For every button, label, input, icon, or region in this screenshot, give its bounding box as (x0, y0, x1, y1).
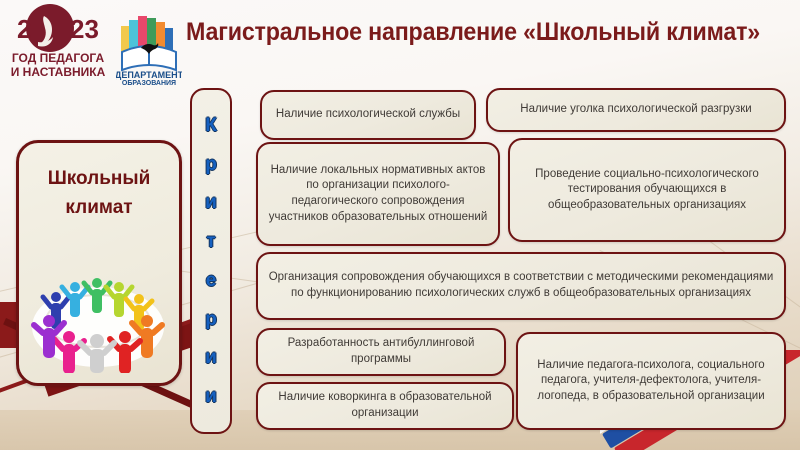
criteria-box: Наличие локальных нормативных актов по о… (256, 142, 500, 246)
criteria-letter: т (206, 232, 215, 251)
school-climate-title-line1: Школьный (48, 168, 151, 189)
criteria-box: Проведение социально-психологического те… (508, 138, 786, 242)
criteria-box: Наличие психологической службы (260, 90, 476, 140)
slide: 2 23 ГОД ПЕДАГОГА И НАСТАВНИКА ДЕПАРТАМЕ… (0, 0, 800, 450)
criteria-letter: р (205, 155, 217, 174)
school-climate-card: Школьный климат (16, 140, 182, 386)
dep-logo-line1: ДЕПАРТАМЕНТ (116, 70, 182, 80)
criteria-letter: и (205, 387, 217, 406)
criteria-box: Разработанность антибуллинговой программ… (256, 328, 506, 376)
year-logo-line2: ГОД ПЕДАГОГА (12, 51, 105, 65)
school-climate-title-line2: климат (65, 197, 132, 218)
department-of-education-logo: ДЕПАРТАМЕНТ ОБРАЗОВАНИЯ (116, 14, 182, 86)
year-of-teacher-logo: 2 23 ГОД ПЕДАГОГА И НАСТАВНИКА (4, 2, 112, 84)
school-climate-title: Школьный климат (48, 165, 151, 222)
criteria-box: Наличие коворкинга в образовательной орг… (256, 382, 514, 430)
criteria-letter: и (205, 348, 217, 367)
criteria-letter: и (205, 193, 217, 212)
criteria-label-column: К р и т е р и и (190, 88, 232, 434)
criteria-letter: К (205, 116, 217, 135)
criteria-box: Организация сопровождения обучающихся в … (256, 252, 786, 320)
dep-logo-line2: ОБРАЗОВАНИЯ (122, 80, 176, 86)
criteria-box: Наличие педагога-психолога, социального … (516, 332, 786, 430)
year-logo-line3: И НАСТАВНИКА (11, 65, 106, 79)
page-title: Магистральное направление «Школьный клим… (186, 18, 744, 47)
people-circle-icon (23, 255, 173, 373)
criteria-letter: р (205, 310, 217, 329)
svg-text:2: 2 (17, 14, 31, 44)
criteria-box: Наличие уголка психологической разгрузки (486, 88, 786, 132)
criteria-letter: е (206, 271, 217, 290)
svg-text:23: 23 (70, 14, 99, 44)
